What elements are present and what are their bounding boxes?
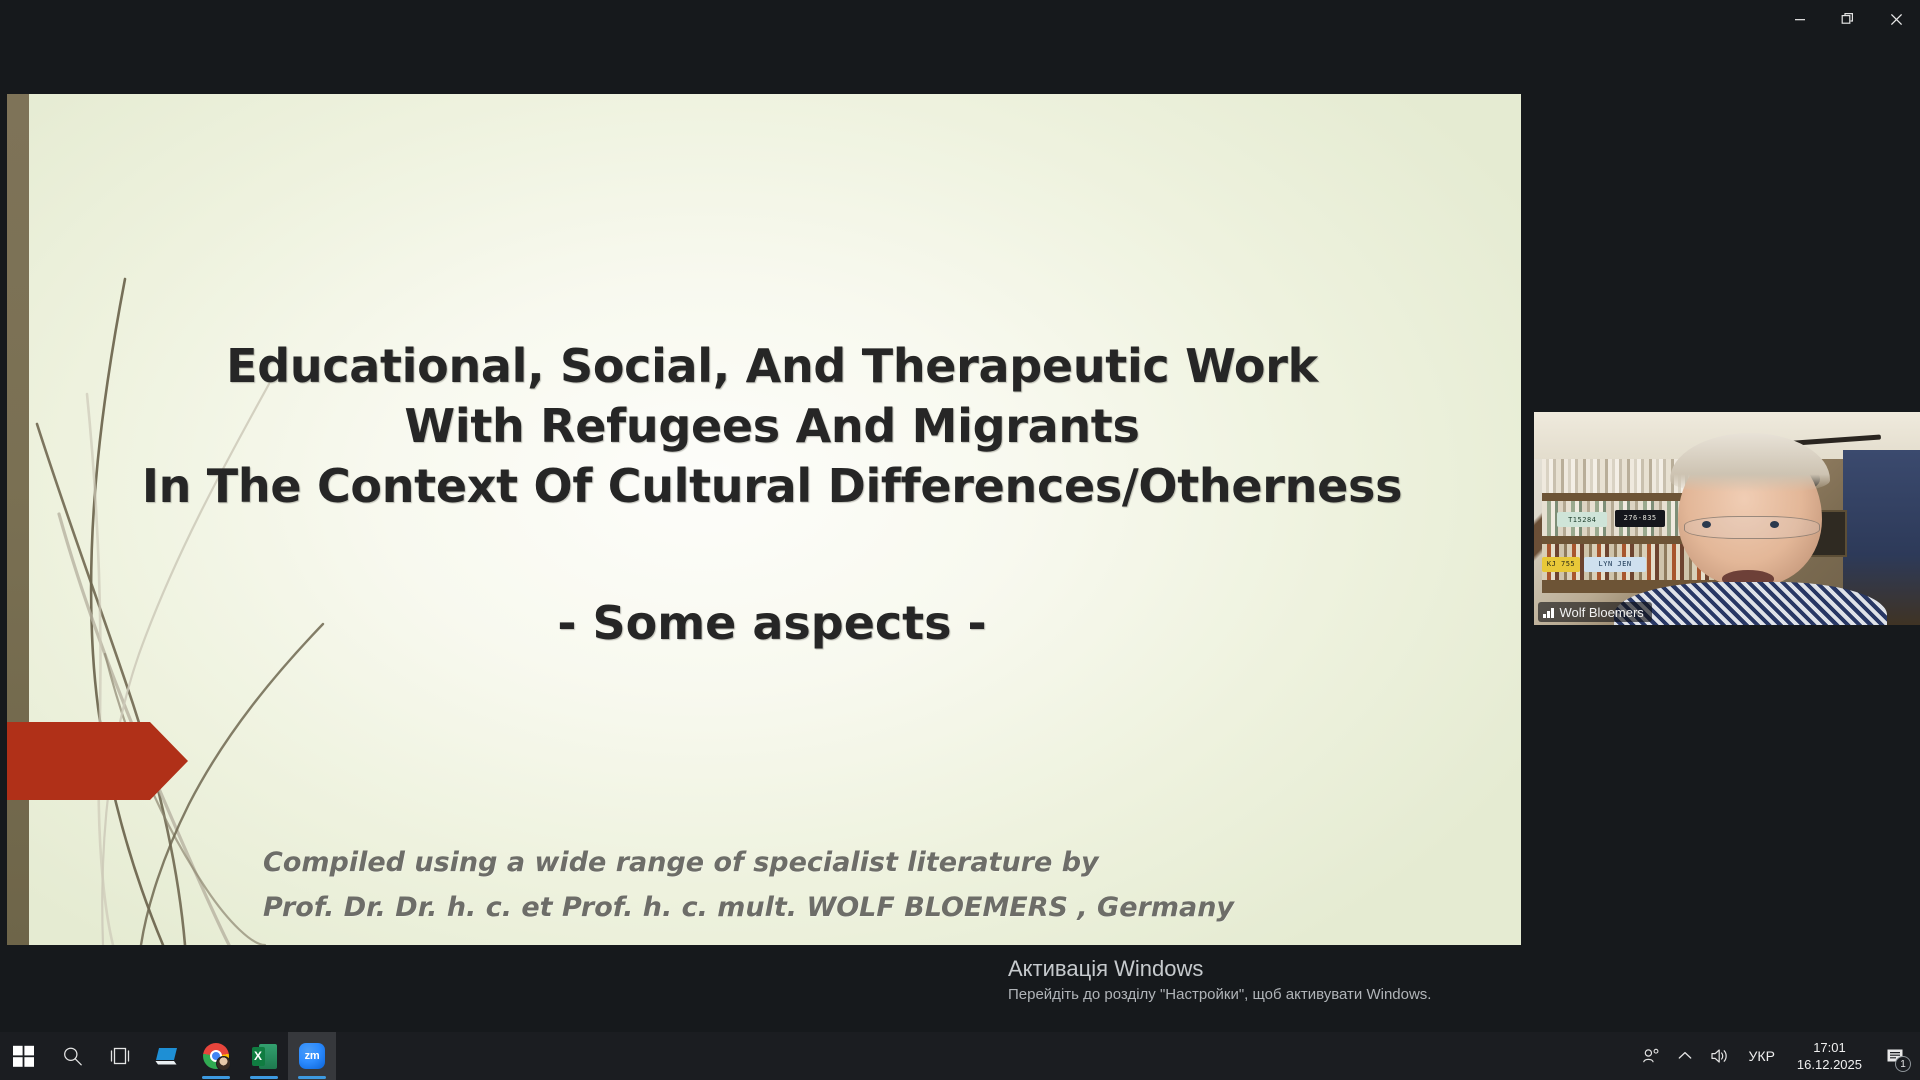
taskbar-item-excel[interactable]: X <box>240 1032 288 1080</box>
slide-title-line-3: In The Context Of Cultural Differences/O… <box>127 456 1417 516</box>
tray-volume-button[interactable] <box>1701 1032 1739 1080</box>
taskbar-item-zoom[interactable]: zm <box>288 1032 336 1080</box>
zoom-icon: zm <box>299 1043 325 1069</box>
tray-date: 16.12.2025 <box>1797 1056 1862 1073</box>
laptop-icon <box>155 1046 181 1066</box>
volume-icon <box>1710 1047 1730 1065</box>
excel-icon-letter: X <box>252 1047 265 1066</box>
restore-icon <box>1841 12 1855 26</box>
participant-portrait <box>1650 433 1851 625</box>
video-thumbnail-panel[interactable]: T15284 276-835 KJ 755 LYN JEN Wolf <box>1534 412 1920 625</box>
audio-level-icon <box>1543 607 1554 618</box>
excel-icon: X <box>252 1044 277 1069</box>
window-title-bar <box>0 0 1920 38</box>
slide-credit: Compiled using a wide range of specialis… <box>263 840 1413 930</box>
portrait-shirt <box>1614 582 1887 625</box>
close-icon <box>1890 13 1903 26</box>
license-plate-a: T15284 <box>1557 512 1607 527</box>
taskbar-item-task-view[interactable] <box>96 1032 144 1080</box>
windows-logo-icon <box>13 1045 35 1067</box>
taskbar-item-file-explorer[interactable] <box>144 1032 192 1080</box>
watermark-subtitle: Перейдіть до розділу "Настройки", щоб ак… <box>1008 984 1508 1006</box>
video-feed-background: T15284 276-835 KJ 755 LYN JEN <box>1534 412 1920 625</box>
window-controls <box>1776 0 1920 38</box>
tray-language-indicator[interactable]: УКР <box>1739 1032 1785 1080</box>
people-icon <box>1642 1047 1660 1065</box>
license-plate-d: LYN JEN <box>1584 557 1646 572</box>
close-button[interactable] <box>1872 0 1920 38</box>
chrome-profile-avatar <box>216 1056 231 1071</box>
chevron-up-icon <box>1678 1051 1692 1061</box>
restore-button[interactable] <box>1824 0 1872 38</box>
taskbar-items: X zm <box>0 1032 336 1080</box>
minimize-button[interactable] <box>1776 0 1824 38</box>
notifications-count-badge: 1 <box>1895 1056 1911 1072</box>
slide-subtitle: - Some aspects - <box>127 594 1417 652</box>
watermark-title: Активація Windows <box>1008 955 1508 983</box>
tray-clock[interactable]: 17:01 16.12.2025 <box>1785 1032 1874 1080</box>
participant-name-badge: Wolf Bloemers <box>1538 602 1652 622</box>
taskbar-item-chrome[interactable] <box>192 1032 240 1080</box>
tray-overflow-button[interactable] <box>1669 1032 1701 1080</box>
slide-title-line-2: With Refugees And Migrants <box>127 396 1417 456</box>
license-plate-c: KJ 755 <box>1542 557 1581 572</box>
participant-name: Wolf Bloemers <box>1560 605 1644 620</box>
slide-title-line-1: Educational, Social, And Therapeutic Wor… <box>127 336 1417 396</box>
slide-side-stripe <box>7 94 29 945</box>
portrait-hair <box>1670 433 1831 492</box>
chrome-icon <box>203 1043 229 1069</box>
windows-activation-watermark: Активація Windows Перейдіть до розділу "… <box>1008 955 1508 1006</box>
search-icon <box>62 1046 83 1067</box>
minimize-icon <box>1794 13 1806 25</box>
task-view-icon <box>109 1046 131 1066</box>
tray-time: 17:01 <box>1813 1039 1846 1056</box>
tray-people-button[interactable] <box>1633 1032 1669 1080</box>
taskbar-item-start[interactable] <box>0 1032 48 1080</box>
decorative-reeds-graphic <box>7 94 327 945</box>
presentation-slide[interactable]: Educational, Social, And Therapeutic Wor… <box>7 94 1521 945</box>
slide-credit-line-2: Prof. Dr. Dr. h. c. et Prof. h. c. mult.… <box>263 885 1413 930</box>
slide-title: Educational, Social, And Therapeutic Wor… <box>127 336 1417 516</box>
tray-notifications-button[interactable]: 1 <box>1874 1032 1916 1080</box>
accent-arrow-shape <box>7 722 188 800</box>
taskbar-spacer <box>336 1032 1633 1080</box>
taskbar-item-search[interactable] <box>48 1032 96 1080</box>
desktop-root: Educational, Social, And Therapeutic Wor… <box>0 0 1920 1080</box>
slide-credit-line-1: Compiled using a wide range of specialis… <box>263 840 1413 885</box>
system-tray: УКР 17:01 16.12.2025 1 <box>1633 1032 1920 1080</box>
taskbar: X zm <box>0 1032 1920 1080</box>
